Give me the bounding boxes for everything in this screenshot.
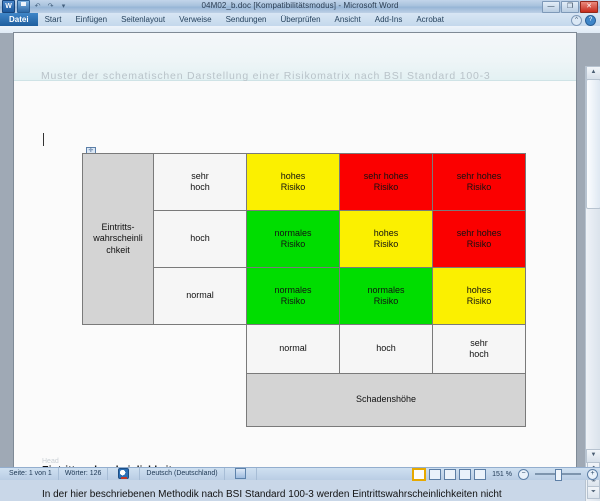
matrix-cell-r2c3: sehr hohes Risiko (433, 211, 526, 268)
help-icon[interactable]: ? (585, 15, 596, 26)
spacer-cell-left (83, 325, 154, 374)
tab-ansicht[interactable]: Ansicht (328, 13, 368, 26)
ghost-style-label: Head (42, 458, 59, 465)
spacer-cell-left-2 (83, 374, 154, 427)
cell-r3c1-line1: normales (274, 285, 311, 295)
cell-r1c1-line1: hohes (281, 171, 306, 181)
word-count[interactable]: Wörter: 126 (59, 468, 109, 480)
probability-axis-label: Eintritts- wahrscheinli chkeit (83, 154, 154, 325)
tab-datei[interactable]: Datei (0, 13, 38, 26)
ribbon-right-controls: ^ ? (571, 15, 596, 26)
document-page[interactable]: Muster der schematischen Darstellung ein… (14, 33, 576, 468)
view-outline-icon[interactable] (459, 469, 471, 480)
ribbon-tabs: Datei Start Einfügen Seitenlayout Verwei… (0, 13, 451, 26)
cell-r3c3-line1: hohes (467, 285, 492, 295)
cell-r1c3-line1: sehr hohes (457, 171, 502, 181)
body-paragraph: In der hier beschriebenen Methodik nach … (42, 489, 562, 500)
risk-matrix-table: Eintritts- wahrscheinli chkeit sehr hoch… (82, 153, 526, 427)
table-row: Eintritts- wahrscheinli chkeit sehr hoch… (83, 154, 526, 211)
spacer-cell-prob-2 (154, 374, 247, 427)
prob-level-normal: normal (154, 268, 247, 325)
view-web-layout-icon[interactable] (444, 469, 456, 480)
cell-r1c2-line1: sehr hohes (364, 171, 409, 181)
zoom-level[interactable]: 151 % (489, 471, 515, 478)
title-bar: W ↶ ↷ ▾ 04M02_b.doc [Kompatibilitätsmodu… (0, 0, 600, 14)
matrix-cell-r2c2: hohes Risiko (340, 211, 433, 268)
text-cursor (43, 133, 44, 146)
matrix-cell-r2c1: normales Risiko (247, 211, 340, 268)
matrix-cell-r3c3: hohes Risiko (433, 268, 526, 325)
cell-r1c2-line2: Risiko (374, 182, 399, 192)
view-print-layout-icon[interactable] (412, 468, 426, 481)
prob-axis-l1: Eintritts- (101, 222, 134, 232)
view-fullscreen-reading-icon[interactable] (429, 469, 441, 480)
matrix-cell-r3c1: normales Risiko (247, 268, 340, 325)
prob-level-sehr-hoch: sehr hoch (154, 154, 247, 211)
cell-r3c1-line2: Risiko (281, 296, 306, 306)
prob-r1-l2: hoch (190, 182, 210, 192)
cell-r2c2-line1: hohes (374, 228, 399, 238)
damage-level-hoch: hoch (340, 325, 433, 374)
matrix-cell-r1c3: sehr hohes Risiko (433, 154, 526, 211)
minimize-ribbon-icon[interactable]: ^ (571, 15, 582, 26)
cell-r2c3-line2: Risiko (467, 239, 492, 249)
cell-r3c2-line1: normales (367, 285, 404, 295)
status-bar: Seite: 1 von 1 Wörter: 126 Deutsch (Deut… (0, 467, 600, 480)
cell-r3c3-line2: Risiko (467, 296, 492, 306)
cell-r2c1-line2: Risiko (281, 239, 306, 249)
cell-r2c1-line1: normales (274, 228, 311, 238)
tab-seitenlayout[interactable]: Seitenlayout (114, 13, 172, 26)
status-left-group: Seite: 1 von 1 Wörter: 126 Deutsch (Deut… (3, 468, 257, 480)
language-indicator[interactable]: Deutsch (Deutschland) (140, 468, 224, 480)
matrix-cell-r3c2: normales Risiko (340, 268, 433, 325)
document-heading: Muster der schematischen Darstellung ein… (41, 70, 541, 82)
window-controls: — ❐ ✕ (542, 1, 598, 13)
scrollbar-thumb[interactable] (586, 79, 600, 209)
view-draft-icon[interactable] (474, 469, 486, 480)
cell-r2c2-line2: Risiko (374, 239, 399, 249)
cell-r1c3-line2: Risiko (467, 182, 492, 192)
macro-record-status[interactable] (225, 468, 257, 480)
spellcheck-icon[interactable] (118, 468, 129, 479)
tab-acrobat[interactable]: Acrobat (409, 13, 451, 26)
damage-axis-label: Schadenshöhe (247, 374, 526, 427)
damage-c3-l2: hoch (469, 349, 489, 359)
window-title: 04M02_b.doc [Kompatibilitätsmodus] - Mic… (0, 1, 600, 10)
scroll-up-icon[interactable]: ▲ (586, 66, 600, 80)
cell-r3c2-line2: Risiko (374, 296, 399, 306)
damage-level-sehr-hoch: sehr hoch (433, 325, 526, 374)
scroll-down-icon[interactable]: ▼ (586, 449, 600, 463)
vertical-scrollbar[interactable]: ▲ ▼ ⏶ ◉ ⏷ (585, 66, 600, 501)
close-button[interactable]: ✕ (580, 1, 598, 13)
cell-r2c3-line1: sehr hohes (457, 228, 502, 238)
prob-axis-l3: chkeit (106, 245, 130, 255)
prob-level-hoch: hoch (154, 211, 247, 268)
ribbon-tab-bar: Datei Start Einfügen Seitenlayout Verwei… (0, 13, 600, 27)
tab-verweise[interactable]: Verweise (172, 13, 218, 26)
zoom-slider-track[interactable] (535, 473, 581, 475)
next-page-icon[interactable]: ⏷ (587, 486, 600, 499)
cell-r1c1-line2: Risiko (281, 182, 306, 192)
restore-button[interactable]: ❐ (561, 1, 579, 13)
spellcheck-status[interactable] (108, 468, 140, 480)
tab-start[interactable]: Start (38, 13, 69, 26)
matrix-cell-r1c2: sehr hohes Risiko (340, 154, 433, 211)
macro-record-icon[interactable] (235, 468, 246, 479)
zoom-in-button[interactable]: + (587, 469, 598, 480)
table-row: normal hoch sehr hoch (83, 325, 526, 374)
page-indicator[interactable]: Seite: 1 von 1 (3, 468, 59, 480)
tab-einfuegen[interactable]: Einfügen (68, 13, 114, 26)
prob-r1-l1: sehr (191, 171, 209, 181)
zoom-out-button[interactable]: − (518, 469, 529, 480)
table-row: Schadenshöhe (83, 374, 526, 427)
tab-sendungen[interactable]: Sendungen (219, 13, 274, 26)
zoom-slider-handle[interactable] (555, 469, 562, 481)
prob-axis-l2: wahrscheinli (93, 233, 143, 243)
spacer-cell-prob (154, 325, 247, 374)
tab-ueberpruefen[interactable]: Überprüfen (274, 13, 328, 26)
word-window: W ↶ ↷ ▾ 04M02_b.doc [Kompatibilitätsmodu… (0, 0, 600, 480)
tab-add-ins[interactable]: Add-Ins (368, 13, 410, 26)
matrix-cell-r1c1: hohes Risiko (247, 154, 340, 211)
status-right-group: 151 % − + (412, 468, 598, 480)
minimize-button[interactable]: — (542, 1, 560, 13)
document-workspace: Muster der schematischen Darstellung ein… (0, 33, 600, 468)
damage-c3-l1: sehr (470, 338, 488, 348)
damage-level-normal: normal (247, 325, 340, 374)
